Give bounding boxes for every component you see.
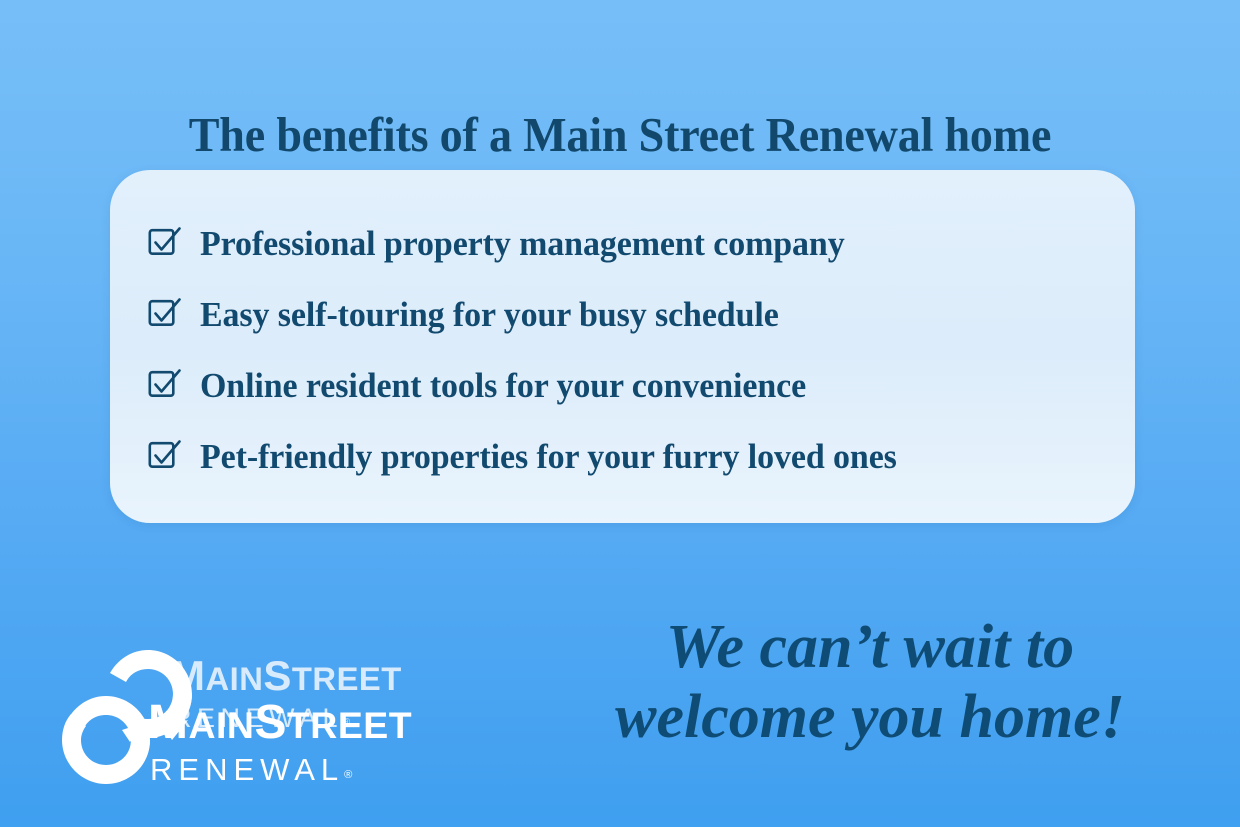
logo-wordmark-sub: RENEWAL® — [150, 753, 412, 792]
brand-logo: MAINSTREET RENEWAL® MAINSTREET RENEWAL® — [48, 636, 548, 796]
tagline: We can’t wait to welcome you home! — [560, 612, 1180, 752]
list-item: Easy self-touring for your busy schedule — [148, 279, 1115, 350]
checked-checkbox-icon — [148, 298, 182, 328]
tagline-line-1: We can’t wait to — [560, 612, 1180, 682]
list-item-label: Professional property management company — [200, 225, 845, 263]
list-item: Pet-friendly properties for your furry l… — [148, 421, 1115, 492]
benefits-card: Professional property management company… — [110, 170, 1135, 523]
logo-ain: AIN — [188, 704, 254, 746]
list-item-label: Online resident tools for your convenien… — [200, 367, 806, 405]
logo-s-cap: S — [254, 696, 287, 749]
logo-treet: TREET — [287, 704, 412, 746]
checked-checkbox-icon — [148, 440, 182, 470]
logo-s-cap: S — [263, 652, 292, 699]
checked-checkbox-icon — [148, 369, 182, 399]
logo-renewal: RENEWAL — [150, 752, 344, 787]
logo-ain: AIN — [206, 660, 264, 697]
logo-wordmark: MAINSTREET RENEWAL® — [148, 698, 412, 792]
list-item: Online resident tools for your convenien… — [148, 350, 1115, 421]
page-title: The benefits of a Main Street Renewal ho… — [37, 105, 1203, 165]
registered-mark-icon: ® — [344, 769, 352, 781]
promotional-poster: The benefits of a Main Street Renewal ho… — [0, 0, 1240, 827]
logo-wordmark-main: MAINSTREET — [148, 698, 412, 750]
logo-wordmark-main-top: MAINSTREET — [170, 654, 402, 701]
logo-m-cap: M — [170, 652, 206, 699]
list-item-label: Easy self-touring for your busy schedule — [200, 296, 779, 334]
list-item: Professional property management company — [148, 208, 1115, 279]
list-item-label: Pet-friendly properties for your furry l… — [200, 438, 897, 476]
logo-treet: TREET — [292, 660, 402, 697]
benefits-list: Professional property management company… — [148, 208, 1115, 492]
checked-checkbox-icon — [148, 227, 182, 257]
tagline-line-2: welcome you home! — [560, 682, 1180, 752]
logo-m-cap: M — [148, 696, 188, 749]
